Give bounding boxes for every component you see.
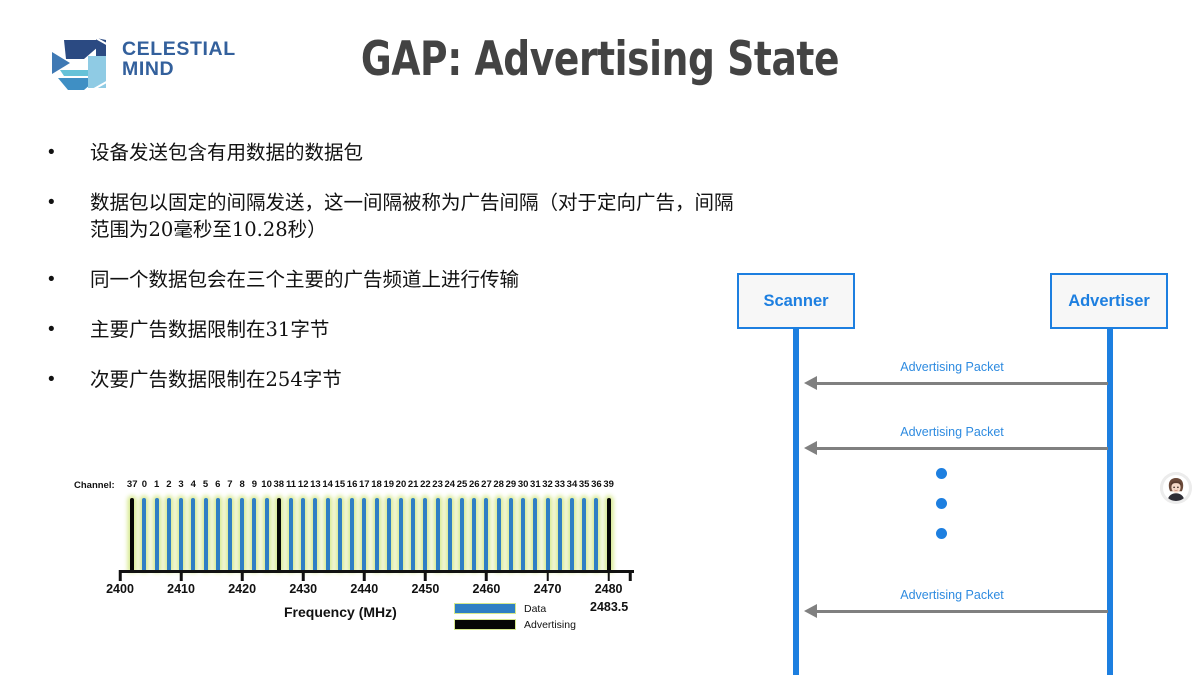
channel-axis-label: Channel: bbox=[74, 480, 115, 491]
slide-title: GAP: Advertising State bbox=[120, 32, 1080, 87]
channel-bar bbox=[472, 498, 476, 570]
x-tick-label: 2430 bbox=[289, 582, 317, 596]
channel-bar bbox=[228, 498, 232, 570]
channel-label: 5 bbox=[203, 479, 208, 490]
channel-bar bbox=[350, 498, 354, 570]
channel-bar bbox=[509, 498, 513, 570]
channel-bar bbox=[277, 498, 281, 570]
bullet-item-3: • 同一个数据包会在三个主要的广告频道上进行传输 bbox=[44, 267, 734, 294]
channel-label: 2 bbox=[166, 479, 171, 490]
x-axis-ticks bbox=[120, 570, 634, 581]
channel-bar bbox=[142, 498, 146, 570]
channel-label: 36 bbox=[591, 479, 602, 490]
channel-bar bbox=[387, 498, 391, 570]
channel-label: 29 bbox=[506, 479, 517, 490]
channel-bar bbox=[399, 498, 403, 570]
celestial-mind-hexagon-icon bbox=[44, 26, 112, 100]
avatar[interactable] bbox=[1160, 472, 1192, 504]
channel-bar bbox=[570, 498, 574, 570]
channel-label: 12 bbox=[298, 479, 309, 490]
bullet-text: 主要广告数据限制在31字节 bbox=[90, 318, 329, 341]
channel-label: 16 bbox=[347, 479, 358, 490]
channel-bar bbox=[460, 498, 464, 570]
channel-label: 17 bbox=[359, 479, 370, 490]
arrow-head-left-icon bbox=[804, 441, 817, 455]
message-line bbox=[814, 447, 1108, 450]
legend-swatch-advertising bbox=[454, 619, 516, 630]
channel-bar bbox=[326, 498, 330, 570]
legend-label-data: Data bbox=[524, 603, 546, 615]
legend-item-advertising: Advertising bbox=[454, 618, 629, 631]
channel-bar bbox=[313, 498, 317, 570]
repetition-ellipsis-dots bbox=[936, 468, 947, 558]
channel-bar bbox=[179, 498, 183, 570]
arrow-head-left-icon bbox=[804, 604, 817, 618]
bullet-marker: • bbox=[48, 140, 55, 166]
bullet-item-1: • 设备发送包含有用数据的数据包 bbox=[44, 140, 734, 167]
message-line bbox=[814, 610, 1108, 613]
channel-label: 14 bbox=[322, 479, 333, 490]
channel-label: 0 bbox=[142, 479, 147, 490]
channel-label: 9 bbox=[252, 479, 257, 490]
channel-label: 1 bbox=[154, 479, 159, 490]
message-line bbox=[814, 382, 1108, 385]
message-label: Advertising Packet bbox=[796, 588, 1108, 602]
channel-label: 28 bbox=[493, 479, 504, 490]
ble-channel-spectrum-chart: Channel: 3701234567891038111213141516171… bbox=[74, 476, 630, 646]
advertising-sequence-diagram: Scanner Advertiser Advertising Packet Ad… bbox=[730, 270, 1170, 675]
channel-bar bbox=[191, 498, 195, 570]
bullet-item-4: • 主要广告数据限制在31字节 bbox=[44, 317, 734, 344]
bullet-marker: • bbox=[48, 317, 55, 343]
channel-label: 20 bbox=[396, 479, 407, 490]
channel-bar bbox=[497, 498, 501, 570]
channel-label: 15 bbox=[335, 479, 346, 490]
channel-bar bbox=[216, 498, 220, 570]
channel-bar bbox=[301, 498, 305, 570]
x-tick-label: 2410 bbox=[167, 582, 195, 596]
x-tick bbox=[546, 570, 549, 581]
channel-bar bbox=[240, 498, 244, 570]
x-tick bbox=[485, 570, 488, 581]
x-tick-label: 2480 bbox=[595, 582, 623, 596]
channel-bar bbox=[594, 498, 598, 570]
x-axis-tick-labels: 240024102420243024402450246024702480 bbox=[120, 582, 634, 598]
channel-label: 6 bbox=[215, 479, 220, 490]
channel-bar bbox=[484, 498, 488, 570]
bullet-list: • 设备发送包含有用数据的数据包 • 数据包以固定的间隔发送，这一间隔被称为广告… bbox=[44, 140, 734, 416]
channel-label: 18 bbox=[371, 479, 382, 490]
chart-legend: Data Advertising bbox=[454, 602, 629, 634]
channel-bar bbox=[204, 498, 208, 570]
channel-bar bbox=[155, 498, 159, 570]
x-tick bbox=[424, 570, 427, 581]
bullet-item-2: • 数据包以固定的间隔发送，这一间隔被称为广告间隔（对于定向广告，间隔范围为20… bbox=[44, 190, 734, 244]
channel-bar bbox=[362, 498, 366, 570]
x-tick bbox=[241, 570, 244, 581]
channel-label: 25 bbox=[457, 479, 468, 490]
channel-label: 4 bbox=[191, 479, 196, 490]
channel-label: 8 bbox=[239, 479, 244, 490]
x-tick-end bbox=[629, 570, 632, 581]
channel-label: 37 bbox=[127, 479, 138, 490]
ellipsis-dot bbox=[936, 468, 947, 479]
channel-bars bbox=[120, 498, 630, 570]
channel-label: 3 bbox=[178, 479, 183, 490]
channel-bar bbox=[130, 498, 134, 570]
channel-label: 19 bbox=[383, 479, 394, 490]
bullet-marker: • bbox=[48, 367, 55, 393]
legend-item-data: Data bbox=[454, 602, 629, 615]
bullet-text: 同一个数据包会在三个主要的广告频道上进行传输 bbox=[90, 268, 519, 291]
channel-label: 34 bbox=[567, 479, 578, 490]
channel-label: 13 bbox=[310, 479, 321, 490]
channel-label: 24 bbox=[445, 479, 456, 490]
ellipsis-dot bbox=[936, 528, 947, 539]
channel-label: 31 bbox=[530, 479, 541, 490]
channel-bar bbox=[167, 498, 171, 570]
legend-label-advertising: Advertising bbox=[524, 619, 576, 631]
message-label: Advertising Packet bbox=[796, 425, 1108, 439]
channel-label: 7 bbox=[227, 479, 232, 490]
channel-label: 23 bbox=[432, 479, 443, 490]
channel-label: 35 bbox=[579, 479, 590, 490]
channel-label: 33 bbox=[554, 479, 565, 490]
channel-bar bbox=[289, 498, 293, 570]
message-arrow-1: Advertising Packet bbox=[796, 360, 1108, 394]
bullet-text: 次要广告数据限制在254字节 bbox=[90, 368, 342, 391]
message-arrow-3: Advertising Packet bbox=[796, 588, 1108, 622]
legend-swatch-data bbox=[454, 603, 516, 614]
channel-bar bbox=[448, 498, 452, 570]
bullet-text: 数据包以固定的间隔发送，这一间隔被称为广告间隔（对于定向广告，间隔范围为20毫秒… bbox=[90, 191, 734, 241]
arrow-head-left-icon bbox=[804, 376, 817, 390]
channel-label: 22 bbox=[420, 479, 431, 490]
x-tick bbox=[302, 570, 305, 581]
bullet-marker: • bbox=[48, 190, 55, 216]
channel-label: 32 bbox=[542, 479, 553, 490]
x-tick bbox=[119, 570, 122, 581]
channel-bar bbox=[521, 498, 525, 570]
x-tick bbox=[180, 570, 183, 581]
x-tick-label: 2450 bbox=[411, 582, 439, 596]
channel-label: 11 bbox=[286, 479, 296, 490]
channel-label: 27 bbox=[481, 479, 492, 490]
channel-bar bbox=[582, 498, 586, 570]
channel-label: 26 bbox=[469, 479, 480, 490]
channel-bar bbox=[436, 498, 440, 570]
channel-label: 21 bbox=[408, 479, 419, 490]
bullet-item-5: • 次要广告数据限制在254字节 bbox=[44, 367, 734, 394]
actor-box-scanner: Scanner bbox=[737, 273, 855, 329]
x-tick-label: 2470 bbox=[534, 582, 562, 596]
channel-bar bbox=[375, 498, 379, 570]
channel-label: 39 bbox=[603, 479, 614, 490]
x-tick bbox=[607, 570, 610, 581]
x-tick-label: 2440 bbox=[350, 582, 378, 596]
channel-bar bbox=[265, 498, 269, 570]
channel-bar bbox=[252, 498, 256, 570]
ellipsis-dot bbox=[936, 498, 947, 509]
channel-bar bbox=[423, 498, 427, 570]
channel-bar bbox=[533, 498, 537, 570]
channel-label: 10 bbox=[261, 479, 272, 490]
bullet-marker: • bbox=[48, 267, 55, 293]
actor-box-advertiser: Advertiser bbox=[1050, 273, 1168, 329]
channel-number-labels: 3701234567891038111213141516171819202122… bbox=[120, 479, 630, 493]
x-tick-label: 2420 bbox=[228, 582, 256, 596]
message-label: Advertising Packet bbox=[796, 360, 1108, 374]
x-tick bbox=[363, 570, 366, 581]
channel-bar bbox=[411, 498, 415, 570]
x-axis-title: Frequency (MHz) bbox=[284, 604, 397, 620]
bullet-text: 设备发送包含有用数据的数据包 bbox=[90, 141, 363, 164]
channel-label: 38 bbox=[274, 479, 285, 490]
x-tick-label: 2460 bbox=[473, 582, 501, 596]
channel-bar bbox=[546, 498, 550, 570]
channel-bar bbox=[558, 498, 562, 570]
message-arrow-2: Advertising Packet bbox=[796, 425, 1108, 459]
channel-bar bbox=[338, 498, 342, 570]
x-tick-label: 2400 bbox=[106, 582, 134, 596]
channel-bar bbox=[607, 498, 611, 570]
channel-label: 30 bbox=[518, 479, 529, 490]
